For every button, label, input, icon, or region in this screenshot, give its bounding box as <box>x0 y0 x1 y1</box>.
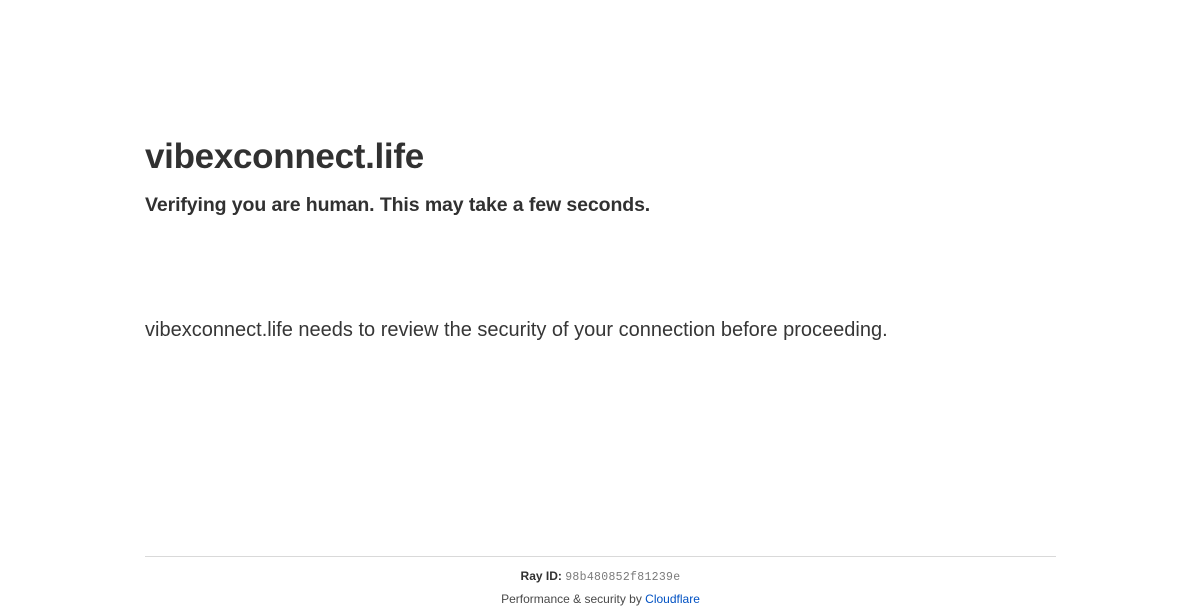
ray-id-label: Ray ID: <box>521 569 562 583</box>
ray-id-row: Ray ID: 98b480852f81239e <box>145 556 1056 585</box>
ray-id-value: 98b480852f81239e <box>565 571 680 584</box>
challenge-content: vibexconnect.life Verifying you are huma… <box>145 0 1056 348</box>
challenge-widget-container[interactable] <box>145 218 445 312</box>
attribution-text: Performance & security by <box>501 592 642 606</box>
page-footer: Ray ID: 98b480852f81239e Performance & s… <box>145 556 1056 607</box>
verification-status-text: Verifying you are human. This may take a… <box>145 179 1056 218</box>
attribution-row: Performance & security by Cloudflare <box>145 585 1056 607</box>
challenge-page: vibexconnect.life Verifying you are huma… <box>0 0 1200 600</box>
challenge-description: vibexconnect.life needs to review the se… <box>145 312 945 348</box>
cloudflare-link[interactable]: Cloudflare <box>645 592 700 606</box>
page-title: vibexconnect.life <box>145 0 1056 179</box>
